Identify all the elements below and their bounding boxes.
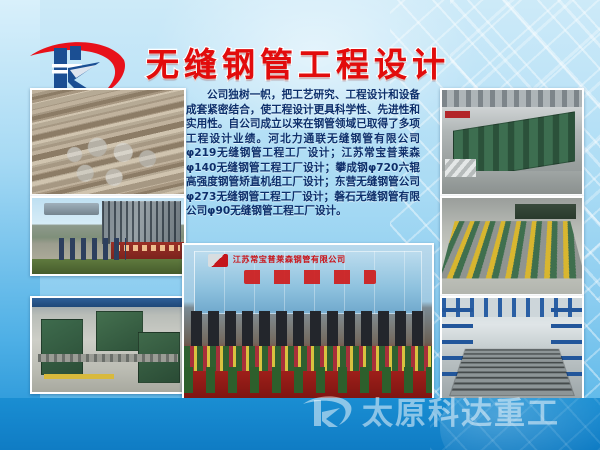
mill-machine-center (96, 311, 144, 351)
workshop-assembly-line-photo (440, 88, 584, 196)
photo-image (32, 90, 184, 194)
photo-image (442, 298, 582, 402)
photo-image (32, 298, 184, 392)
equipment-yard-aerial-photo (440, 196, 584, 296)
photo-image (442, 90, 582, 194)
workshop-signage (445, 111, 470, 118)
photo-image (32, 198, 184, 274)
opening-ceremony-photo: 江苏常宝普莱森钢管有限公司 (182, 243, 434, 404)
stacked-pipes (445, 159, 476, 178)
roller-conveyor (38, 354, 178, 362)
body-paragraph: 公司独树一帜，把工艺研究、工程设计和设备成套紧密结合，使工程设计更具科学性、先进… (186, 88, 420, 219)
workshop-roof-trusses (442, 90, 582, 107)
page-title: 无缝钢管工程设计 (128, 42, 468, 88)
people-group (59, 238, 126, 261)
cooling-bed (450, 349, 573, 395)
banner-slogan-characters (244, 270, 376, 284)
photo-image: 江苏常宝普莱森钢管有限公司 (184, 245, 432, 402)
equipment-rows (440, 221, 584, 279)
entry-gate (44, 203, 99, 215)
photo-image (442, 198, 582, 294)
yard-shed (515, 204, 577, 219)
factory-gate-group-photo (30, 196, 186, 276)
rolling-mill-overhead-photo (30, 296, 186, 394)
banner-company-name: 江苏常宝普莱森钢管有限公司 (233, 255, 411, 269)
banner-logo-icon (208, 254, 229, 267)
band-lattice-pattern (430, 398, 600, 450)
slide-canvas: 无缝钢管工程设计 无缝钢管工程设计 公司独树一帜，把工艺研究、工程设计和设备成套… (0, 0, 600, 450)
ceremony-backdrop-banner: 江苏常宝普莱森钢管有限公司 (194, 251, 422, 314)
lawn (32, 259, 184, 274)
safety-marking (44, 374, 114, 379)
mill-machine-left (41, 319, 83, 376)
overhead-crane-beam (32, 298, 184, 307)
cooling-bed-hall-photo (440, 296, 584, 404)
steel-pipes-stack-photo (30, 88, 186, 196)
potted-plants (184, 367, 432, 392)
bottom-blue-band (0, 398, 600, 450)
